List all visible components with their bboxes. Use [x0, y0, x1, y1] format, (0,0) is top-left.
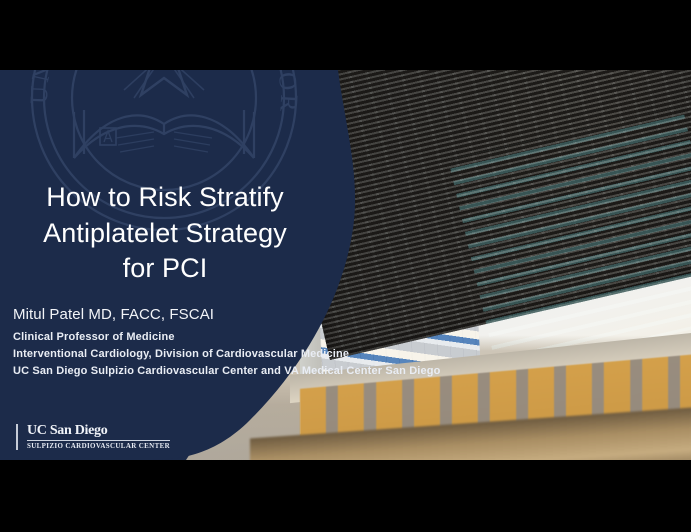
- logo-divider: [27, 440, 170, 441]
- video-player-frame: UNIVERSITY OF CALIFORNIA How to Risk Str…: [0, 0, 691, 532]
- ucsd-logo: UC San Diego Sulpizio Cardiovascular Cen…: [16, 424, 170, 450]
- logo-text-group: UC San Diego Sulpizio Cardiovascular Cen…: [27, 424, 170, 450]
- slide-title-line-1: How to Risk Stratify: [0, 180, 330, 216]
- slide-title: How to Risk Stratify Antiplatelet Strate…: [0, 180, 330, 287]
- logo-vertical-rule: [16, 424, 18, 450]
- logo-secondary-text: Sulpizio Cardiovascular Center: [27, 443, 170, 450]
- presentation-slide: UNIVERSITY OF CALIFORNIA How to Risk Str…: [0, 70, 691, 460]
- logo-primary-text: UC San Diego: [27, 424, 170, 438]
- presenter-affiliation-1: Clinical Professor of Medicine: [13, 329, 441, 346]
- presenter-affiliation-2: Interventional Cardiology, Division of C…: [13, 346, 441, 363]
- slide-title-line-2: Antiplatelet Strategy: [0, 216, 330, 252]
- slide-title-line-3: for PCI: [0, 251, 330, 287]
- presenter-name: Mitul Patel MD, FACC, FSCAI: [13, 306, 441, 323]
- presenter-affiliation-3: UC San Diego Sulpizio Cardiovascular Cen…: [13, 363, 441, 380]
- presenter-block: Mitul Patel MD, FACC, FSCAI Clinical Pro…: [13, 306, 441, 380]
